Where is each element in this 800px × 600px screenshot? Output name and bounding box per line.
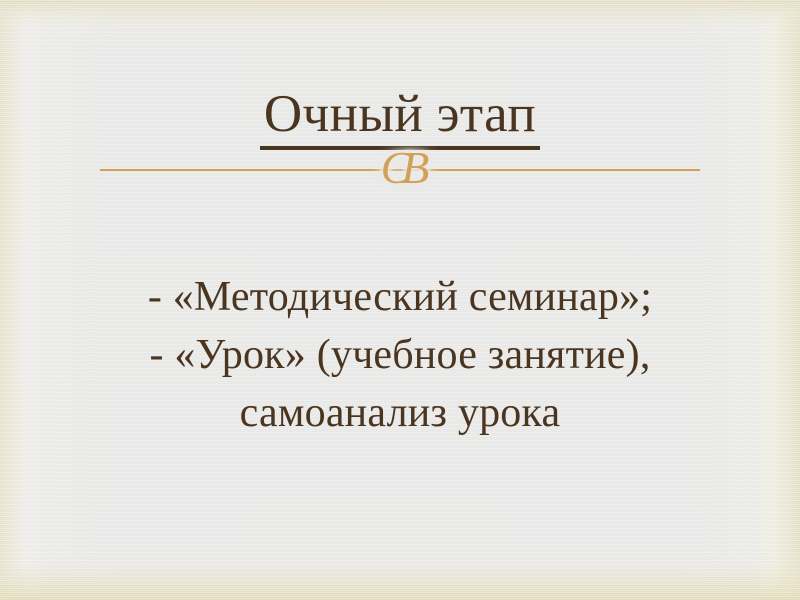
page-title: Очный этап bbox=[260, 84, 540, 150]
presentation-slide: Очный этап CB - «Методический семинар»; … bbox=[0, 0, 800, 600]
body-line-2: - «Урок» (учебное занятие), bbox=[40, 326, 760, 384]
ornament-divider: CB bbox=[100, 146, 700, 194]
body-text-block: - «Методический семинар»; - «Урок» (учеб… bbox=[40, 268, 760, 442]
body-line-1: - «Методический семинар»; bbox=[40, 268, 760, 326]
flourish-ornament-icon: CB bbox=[375, 144, 426, 192]
body-line-3: самоанализ урока bbox=[40, 384, 760, 442]
